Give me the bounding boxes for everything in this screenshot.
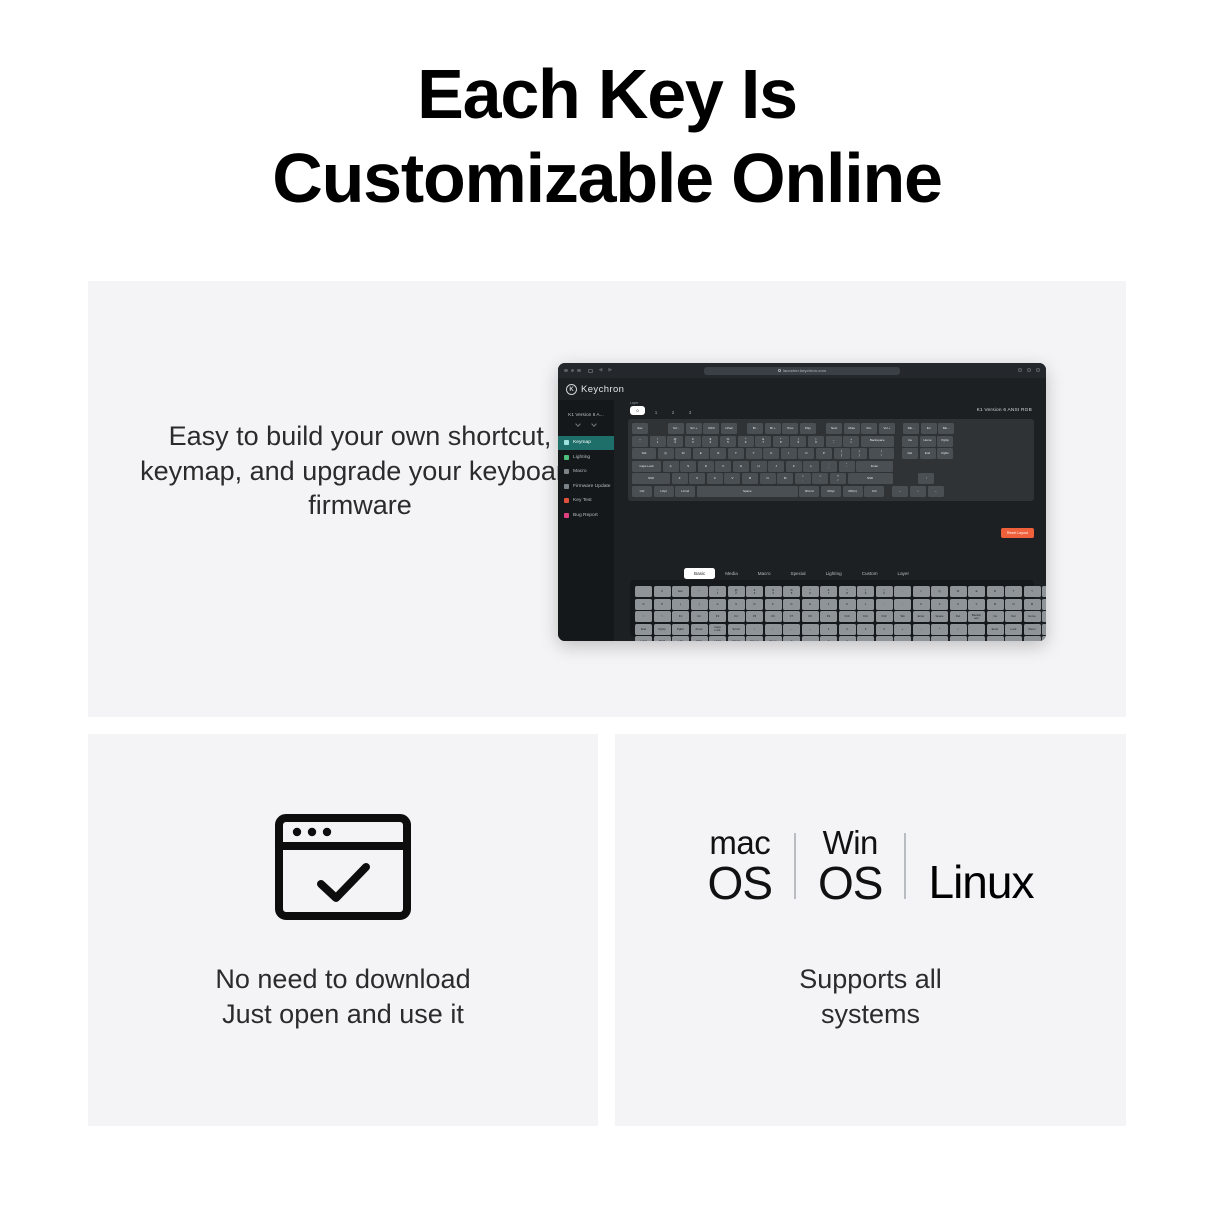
keychron-launcher-screenshot: ◀ ▶ launcher.keychron.com K Keychron bbox=[558, 363, 1046, 641]
keyboard-model-label: K1 Version 6 ANSI RGB bbox=[977, 408, 1032, 413]
keyboard-key[interactable]: Stb... bbox=[903, 423, 919, 434]
keyboard-key[interactable]: Shift bbox=[632, 473, 670, 484]
palette-key[interactable]: Screen bbox=[746, 636, 763, 641]
keyboard-key[interactable]: Next bbox=[826, 423, 842, 434]
keyboard-row: TabQWERTYUIOP{ [} ]| \DelEndPgDn bbox=[632, 448, 1030, 459]
keyboard-key[interactable]: LPad bbox=[721, 423, 737, 434]
keyboard-key[interactable]: @ 2 bbox=[667, 436, 683, 447]
palette-key[interactable]: Caps Lock bbox=[709, 624, 726, 635]
keyboard-key[interactable]: % 5 bbox=[720, 436, 736, 447]
palette-row: 0Esc~ `! 1@ 2# 3$ 4% 5^ 6& 7* 8( 9) 0-=Q… bbox=[635, 586, 1029, 597]
keyboard-key[interactable]: Scr + bbox=[686, 423, 702, 434]
keyboard-key[interactable]: LCmd bbox=[675, 486, 695, 497]
keyboard-key[interactable]: ↑ bbox=[918, 473, 934, 484]
palette-key[interactable]: F1 bbox=[672, 611, 689, 622]
sidebar-item-firmware-update[interactable]: Firmware Update bbox=[558, 480, 614, 494]
keyboard-key[interactable]: Caps Lock bbox=[632, 461, 661, 472]
keyboard-key[interactable]: M bbox=[777, 473, 793, 484]
palette-key[interactable]: LGUI bbox=[709, 636, 726, 641]
palette-key[interactable]: ↑ bbox=[746, 624, 763, 635]
palette-row: /\F1F2F3F4F5F6F7F8F9F10F11F12TabEnterSpa… bbox=[635, 611, 1029, 622]
device-actions bbox=[565, 422, 607, 426]
keyboard-key[interactable]: $ 4 bbox=[702, 436, 718, 447]
keyboard-key[interactable]: MCtl bbox=[703, 423, 719, 434]
palette-row: LCtrlRCtrlLAltRAltLGUIRGUIScreenSleep0.?… bbox=[635, 636, 1029, 641]
palette-key[interactable]: ' bbox=[894, 599, 911, 610]
keyboard-key[interactable]: O bbox=[798, 448, 814, 459]
sidebar-item-key-test[interactable]: Key Test bbox=[558, 494, 614, 508]
keyboard-spacer bbox=[936, 473, 952, 484]
palette-key[interactable]: PgDn bbox=[672, 624, 689, 635]
palette-key[interactable] bbox=[913, 636, 930, 641]
palette-key[interactable]: A bbox=[709, 599, 726, 610]
palette-key[interactable]: ? bbox=[820, 636, 837, 641]
keyboard-key[interactable]: B bbox=[742, 473, 758, 484]
palette-key[interactable]: Del bbox=[1005, 611, 1022, 622]
keyboard-key[interactable]: H bbox=[751, 461, 767, 472]
keyboard-key[interactable]: > . bbox=[812, 473, 828, 484]
keyboard-key[interactable]: Ins bbox=[902, 436, 918, 447]
palette-key[interactable]: S bbox=[728, 599, 745, 610]
palette-key[interactable] bbox=[950, 636, 967, 641]
keyboard-key[interactable]: ? / bbox=[830, 473, 846, 484]
palette-key[interactable] bbox=[1024, 636, 1041, 641]
palette-key[interactable]: / bbox=[950, 624, 967, 635]
page-root: Each Key Is Customizable Online Easy to … bbox=[0, 0, 1214, 1214]
palette-key[interactable]: R bbox=[987, 586, 1004, 597]
keyboard-row: CtrlLOptLCmdSpaceRCmdROptMO(1)Ctrl←↓→ bbox=[632, 486, 1030, 497]
app-sidebar: K1 Version 6 A... KeymapLightingMacroFir… bbox=[558, 400, 614, 641]
edit-icon[interactable] bbox=[575, 421, 581, 427]
keyboard-key[interactable]: Vol + bbox=[879, 423, 895, 434]
palette-key[interactable]: Scroll bbox=[728, 624, 745, 635]
keyboard-spacer bbox=[897, 423, 902, 434]
reset-layout-button[interactable]: Reset Layout bbox=[1001, 528, 1034, 538]
keyboard-spacer bbox=[919, 461, 935, 472]
palette-key[interactable]: Q bbox=[931, 586, 948, 597]
keyboard-key[interactable]: T bbox=[728, 448, 744, 459]
tab-layer[interactable]: Layer bbox=[888, 568, 920, 579]
palette-key[interactable] bbox=[931, 636, 948, 641]
palette-key[interactable]: F2 bbox=[691, 611, 708, 622]
sidebar-item-label: Bug Report bbox=[573, 513, 598, 518]
keyboard-key[interactable]: Tab bbox=[632, 448, 656, 459]
palette-key[interactable]: # 3 bbox=[746, 586, 763, 597]
palette-key[interactable]: Enter bbox=[987, 624, 1004, 635]
keyboard-key[interactable]: Blu... bbox=[938, 423, 954, 434]
palette-row: OP[]ASDFGHJKL;'ZXCVBNM,. bbox=[635, 599, 1029, 610]
keyboard-key[interactable]: Enter bbox=[856, 461, 893, 472]
palette-key[interactable] bbox=[857, 636, 874, 641]
keyboard-key[interactable]: C bbox=[707, 473, 723, 484]
palette-key[interactable]: F11 bbox=[857, 611, 874, 622]
layer-selector: Layer 0 1 2 3 bbox=[630, 406, 696, 415]
keyboard-key[interactable]: A bbox=[663, 461, 679, 472]
os-winos: Win OS bbox=[818, 826, 882, 906]
keyboard-key[interactable]: → bbox=[928, 486, 944, 497]
palette-key[interactable]: F8 bbox=[802, 611, 819, 622]
palette-key[interactable]: F12 bbox=[876, 611, 893, 622]
palette-key[interactable]: \ bbox=[654, 611, 671, 622]
caption-line-2: Just open and use it bbox=[88, 997, 598, 1032]
keyboard-key[interactable]: End bbox=[920, 448, 936, 459]
keyboard-key[interactable]: * 8 bbox=[773, 436, 789, 447]
browser-actions bbox=[1018, 368, 1040, 372]
palette-key[interactable]: * bbox=[931, 624, 948, 635]
palette-key[interactable]: $ 4 bbox=[765, 586, 782, 597]
address-bar[interactable]: launcher.keychron.com bbox=[704, 367, 900, 376]
sidebar-item-bug-report[interactable]: Bug Report bbox=[558, 509, 614, 523]
keyboard-row: ~ `! 1@ 2# 3$ 4% 5^ 6& 7* 8( 9) 0_ -+ =B… bbox=[632, 436, 1030, 447]
palette-key[interactable]: RGUI bbox=[728, 636, 745, 641]
keyboard-key[interactable]: PgDn bbox=[937, 448, 953, 459]
keyboard-key[interactable]: X bbox=[689, 473, 705, 484]
palette-key[interactable]: W bbox=[950, 586, 967, 597]
tab-special[interactable]: Special bbox=[781, 568, 816, 579]
feature-card-caption: Supports all systems bbox=[615, 962, 1126, 1031]
palette-key[interactable]: 4 bbox=[876, 624, 893, 635]
keyboard-key[interactable]: PgUp bbox=[937, 436, 953, 447]
firmware-update-icon bbox=[564, 484, 569, 489]
tabs-icon[interactable] bbox=[1036, 368, 1040, 372]
keyboard-key[interactable]: ↓ bbox=[910, 486, 926, 497]
keyboard-key[interactable]: Eri bbox=[921, 423, 937, 434]
forward-arrow-icon[interactable]: ▶ bbox=[608, 368, 612, 373]
sidebar-item-label: Keymap bbox=[573, 440, 591, 445]
palette-key[interactable]: F10 bbox=[839, 611, 856, 622]
os-winos-top: Win bbox=[818, 826, 882, 860]
keyboard-row: EscScr -Scr +MCtlLPadBr -Br +PrevPlayNex… bbox=[632, 423, 1030, 434]
palette-key[interactable]: F5 bbox=[746, 611, 763, 622]
palette-key[interactable]: F bbox=[765, 599, 782, 610]
sidebar-item-label: Lighting bbox=[573, 455, 590, 460]
palette-key[interactable]: U bbox=[1042, 586, 1046, 597]
keyboard-spacer bbox=[895, 436, 900, 447]
keyboard-spacer bbox=[937, 461, 953, 472]
palette-key[interactable]: Tab bbox=[894, 611, 911, 622]
palette-key[interactable] bbox=[1042, 611, 1046, 622]
keyboard-key[interactable]: # 3 bbox=[685, 436, 701, 447]
keyboard-key[interactable]: ~ ` bbox=[632, 436, 648, 447]
palette-key[interactable]: Ins bbox=[987, 611, 1004, 622]
palette-key[interactable]: C bbox=[950, 599, 967, 610]
sidebar-toggle-icon[interactable] bbox=[588, 369, 593, 373]
palette-key[interactable]: G bbox=[783, 599, 800, 610]
sidebar-nav: KeymapLightingMacroFirmware UpdateKey Te… bbox=[558, 436, 614, 522]
palette-key[interactable]: + bbox=[894, 624, 911, 635]
palette-key[interactable]: End bbox=[635, 624, 652, 635]
keyboard-spacer bbox=[901, 461, 917, 472]
palette-key[interactable]: F9 bbox=[820, 611, 837, 622]
palette-key[interactable]: 1 bbox=[820, 624, 837, 635]
tab-custom[interactable]: Custom bbox=[852, 568, 888, 579]
keyboard-key[interactable]: Home bbox=[920, 436, 936, 447]
keyboard-key[interactable]: S bbox=[680, 461, 696, 472]
palette-key[interactable]: X bbox=[931, 599, 948, 610]
tab-lighting[interactable]: Lighting bbox=[816, 568, 852, 579]
keyboard-key[interactable]: RCmd bbox=[799, 486, 819, 497]
bug-report-icon bbox=[564, 513, 569, 518]
refresh-icon[interactable] bbox=[591, 421, 597, 427]
keyboard-key[interactable]: U bbox=[763, 448, 779, 459]
share-icon[interactable] bbox=[1018, 368, 1022, 372]
keyboard-key[interactable]: } ] bbox=[851, 448, 867, 459]
key-test-icon bbox=[564, 498, 569, 503]
keyboard-key[interactable]: : ; bbox=[821, 461, 837, 472]
lighting-icon bbox=[564, 455, 569, 460]
keyboard-key[interactable]: ) 0 bbox=[808, 436, 824, 447]
palette-key[interactable]: F3 bbox=[709, 611, 726, 622]
keyboard-key[interactable]: ^ 6 bbox=[738, 436, 754, 447]
tab-media[interactable]: Media bbox=[715, 568, 748, 579]
keyboard-key[interactable]: K bbox=[786, 461, 802, 472]
keyboard-spacer bbox=[894, 473, 899, 484]
keyboard-key[interactable]: Play bbox=[800, 423, 816, 434]
palette-key[interactable]: K bbox=[839, 599, 856, 610]
layer-selector-label: Layer bbox=[630, 401, 638, 405]
plus-icon[interactable] bbox=[1027, 368, 1031, 372]
palette-key[interactable]: ← bbox=[783, 624, 800, 635]
device-selector[interactable]: K1 Version 6 A... bbox=[563, 407, 609, 430]
keyboard-key[interactable]: N bbox=[760, 473, 776, 484]
keyboard-spacer bbox=[886, 486, 891, 497]
palette-key[interactable]: Sleep bbox=[765, 636, 782, 641]
sidebar-item-label: Macro bbox=[573, 469, 587, 474]
keyboard-key[interactable]: G bbox=[733, 461, 749, 472]
palette-key[interactable]: 0 bbox=[654, 586, 671, 597]
palette-key[interactable]: Enter bbox=[913, 611, 930, 622]
palette-key[interactable]: @ 2 bbox=[728, 586, 745, 597]
palette-key[interactable]: ; bbox=[876, 599, 893, 610]
palette-key[interactable]: LCtrl bbox=[635, 636, 652, 641]
app-brand: K Keychron bbox=[566, 384, 624, 395]
palette-key[interactable]: % 5 bbox=[783, 586, 800, 597]
palette-key[interactable]: B bbox=[987, 599, 1004, 610]
caption-line-1: Supports all bbox=[615, 962, 1126, 997]
keyboard-spacer bbox=[895, 448, 900, 459]
keyboard-key[interactable]: E bbox=[693, 448, 709, 459]
keyboard-key[interactable]: Shift bbox=[848, 473, 893, 484]
key-palette-tabs: BasicMediaMacroSpecialLightingCustomLaye… bbox=[684, 568, 919, 579]
keyboard-key[interactable]: " ' bbox=[839, 461, 855, 472]
palette-key[interactable]: = bbox=[913, 586, 930, 597]
layer-option-2[interactable]: 2 bbox=[667, 410, 679, 415]
keyboard-key[interactable]: ← bbox=[892, 486, 908, 497]
palette-key[interactable]: Menu bbox=[1024, 624, 1041, 635]
keyboard-row: Caps LockASDFGHJKL: ;" 'Enter bbox=[632, 461, 1030, 472]
palette-key[interactable]: F4 bbox=[728, 611, 745, 622]
keyboard-key[interactable]: { [ bbox=[834, 448, 850, 459]
keyboard-key[interactable]: Scr - bbox=[668, 423, 684, 434]
layer-option-selected[interactable]: 0 bbox=[630, 406, 645, 415]
palette-key[interactable]: Del bbox=[950, 611, 967, 622]
keyboard-layout[interactable]: EscScr -Scr +MCtlLPadBr -Br +PrevPlayNex… bbox=[628, 419, 1034, 501]
palette-key[interactable] bbox=[1042, 636, 1046, 641]
palette-key[interactable] bbox=[1042, 624, 1046, 635]
keyboard-key[interactable]: R bbox=[710, 448, 726, 459]
palette-key[interactable] bbox=[968, 636, 985, 641]
palette-key[interactable]: D bbox=[746, 599, 763, 610]
keyboard-spacer bbox=[739, 423, 746, 434]
palette-key[interactable]: PgUp bbox=[654, 624, 671, 635]
palette-key[interactable]: - bbox=[913, 624, 930, 635]
palette-key[interactable]: N bbox=[1005, 599, 1022, 610]
address-bar-url: launcher.keychron.com bbox=[783, 368, 826, 373]
keyboard-key[interactable]: MO(1) bbox=[843, 486, 863, 497]
keyboard-key[interactable]: Vol - bbox=[861, 423, 877, 434]
palette-key[interactable]: F6 bbox=[765, 611, 782, 622]
keyboard-key[interactable]: L bbox=[803, 461, 819, 472]
keychron-logo-icon: K bbox=[566, 384, 577, 395]
keyboard-key[interactable]: J bbox=[768, 461, 784, 472]
tab-basic[interactable]: Basic bbox=[684, 568, 715, 579]
palette-key[interactable]: Backsp ace bbox=[968, 611, 985, 622]
palette-key[interactable]: Home bbox=[1024, 611, 1041, 622]
keyboard-key[interactable]: & 7 bbox=[755, 436, 771, 447]
feature-card-no-download: No need to download Just open and use it bbox=[88, 734, 598, 1126]
caption-line-2: systems bbox=[615, 997, 1126, 1032]
palette-key[interactable]: ! 1 bbox=[709, 586, 726, 597]
keyboard-key[interactable]: V bbox=[724, 473, 740, 484]
keyboard-key[interactable]: Del bbox=[902, 448, 918, 459]
sidebar-item-keymap[interactable]: Keymap bbox=[558, 436, 614, 450]
keyboard-key[interactable]: Esc bbox=[632, 423, 648, 434]
sidebar-item-label: Key Test bbox=[573, 498, 592, 503]
maximize-icon[interactable] bbox=[577, 369, 581, 373]
palette-key[interactable]: RCtrl bbox=[654, 636, 671, 641]
palette-key[interactable] bbox=[876, 636, 893, 641]
palette-key[interactable]: , bbox=[1042, 599, 1046, 610]
palette-key[interactable]: ~ ` bbox=[691, 586, 708, 597]
keyboard-key[interactable]: Q bbox=[658, 448, 674, 459]
keyboard-key[interactable]: Backspace bbox=[861, 436, 894, 447]
palette-key[interactable]: 2 bbox=[839, 624, 856, 635]
keyboard-key[interactable]: D bbox=[698, 461, 714, 472]
palette-key[interactable]: . bbox=[802, 636, 819, 641]
palette-key[interactable]: ↓ bbox=[765, 624, 782, 635]
keyboard-key[interactable]: I bbox=[781, 448, 797, 459]
palette-key[interactable]: RAlt bbox=[691, 636, 708, 641]
palette-key[interactable]: [ bbox=[672, 599, 689, 610]
page-title: Each Key Is Customizable Online bbox=[0, 52, 1214, 220]
keyboard-key[interactable]: Br - bbox=[747, 423, 763, 434]
keyboard-key[interactable]: ROpt bbox=[821, 486, 841, 497]
feature-card-caption: No need to download Just open and use it bbox=[88, 962, 598, 1031]
keyboard-key[interactable]: Y bbox=[746, 448, 762, 459]
palette-key[interactable]: T bbox=[1005, 586, 1022, 597]
palette-key[interactable] bbox=[1005, 636, 1022, 641]
back-arrow-icon[interactable]: ◀ bbox=[599, 368, 603, 373]
caption-line-1: No need to download bbox=[88, 962, 598, 997]
palette-key[interactable]: LAlt bbox=[672, 636, 689, 641]
app-brand-name: Keychron bbox=[581, 384, 624, 395]
keyboard-spacer bbox=[895, 461, 900, 472]
palette-key[interactable] bbox=[968, 624, 985, 635]
keyboard-key[interactable]: W bbox=[675, 448, 691, 459]
palette-key[interactable]: L bbox=[857, 599, 874, 610]
page-title-line-1: Each Key Is bbox=[0, 52, 1214, 136]
keyboard-key[interactable]: ! 1 bbox=[650, 436, 666, 447]
keyboard-key[interactable]: Mute bbox=[844, 423, 860, 434]
palette-key[interactable] bbox=[894, 636, 911, 641]
keyboard-key[interactable]: + = bbox=[843, 436, 859, 447]
palette-key[interactable]: 0 bbox=[783, 636, 800, 641]
palette-key[interactable]: E bbox=[968, 586, 985, 597]
palette-key[interactable]: F7 bbox=[783, 611, 800, 622]
palette-key[interactable]: & 7 bbox=[820, 586, 837, 597]
keyboard-key[interactable]: Ctrl bbox=[864, 486, 884, 497]
palette-key[interactable]: P bbox=[654, 599, 671, 610]
palette-key[interactable]: Esc bbox=[672, 586, 689, 597]
palette-key[interactable] bbox=[635, 586, 652, 597]
palette-key[interactable]: Y bbox=[1024, 586, 1041, 597]
tab-macro[interactable]: Macro bbox=[748, 568, 781, 579]
keyboard-key[interactable]: LOpt bbox=[654, 486, 674, 497]
palette-key[interactable]: ( 9 bbox=[857, 586, 874, 597]
palette-key[interactable]: * bbox=[839, 636, 856, 641]
palette-key[interactable]: O bbox=[635, 599, 652, 610]
palette-key[interactable]: Lock bbox=[1005, 624, 1022, 635]
keyboard-key[interactable]: ( 9 bbox=[790, 436, 806, 447]
app-workspace: Layer 0 1 2 3 K1 Version 6 ANSI RGB EscS… bbox=[614, 400, 1046, 641]
keyboard-key[interactable]: | \ bbox=[869, 448, 894, 459]
palette-key[interactable]: * 8 bbox=[839, 586, 856, 597]
layer-option-3[interactable]: 3 bbox=[684, 410, 696, 415]
keymap-icon bbox=[564, 440, 569, 445]
keyboard-spacer bbox=[901, 473, 917, 484]
keyboard-key[interactable]: Ctrl bbox=[632, 486, 652, 497]
keyboard-key[interactable]: _ - bbox=[826, 436, 842, 447]
palette-key[interactable]: H bbox=[802, 599, 819, 610]
palette-key[interactable]: M bbox=[1024, 599, 1041, 610]
os-divider-2 bbox=[904, 833, 906, 899]
palette-key[interactable]: Z bbox=[913, 599, 930, 610]
palette-key[interactable]: / bbox=[635, 611, 652, 622]
page-title-line-2: Customizable Online bbox=[0, 136, 1214, 220]
keyboard-key[interactable]: Br + bbox=[765, 423, 781, 434]
browser-toolbar: ◀ ▶ launcher.keychron.com bbox=[558, 363, 1046, 378]
sidebar-item-macro[interactable]: Macro bbox=[558, 465, 614, 479]
palette-key[interactable]: - bbox=[894, 586, 911, 597]
feature-card-os-support: mac OS Win OS Linux Supports all systems bbox=[615, 734, 1126, 1126]
keyboard-key[interactable]: F bbox=[715, 461, 731, 472]
layer-option-1[interactable]: 1 bbox=[650, 410, 662, 415]
palette-key[interactable]: ^ 6 bbox=[802, 586, 819, 597]
palette-key[interactable] bbox=[987, 636, 1004, 641]
keyboard-key[interactable]: Space bbox=[697, 486, 798, 497]
palette-key[interactable]: 3 bbox=[857, 624, 874, 635]
palette-key[interactable]: V bbox=[968, 599, 985, 610]
sidebar-item-label: Firmware Update bbox=[573, 484, 611, 489]
keyboard-key[interactable]: P bbox=[816, 448, 832, 459]
palette-key[interactable]: ) 0 bbox=[876, 586, 893, 597]
palette-key[interactable]: → bbox=[802, 624, 819, 635]
palette-key[interactable]: ] bbox=[691, 599, 708, 610]
minimize-icon[interactable] bbox=[571, 369, 575, 373]
palette-key[interactable]: Space bbox=[931, 611, 948, 622]
os-macos-top: mac bbox=[708, 826, 772, 860]
palette-key[interactable]: J bbox=[820, 599, 837, 610]
keyboard-key[interactable]: Z bbox=[672, 473, 688, 484]
sidebar-item-lighting[interactable]: Lighting bbox=[558, 451, 614, 465]
keyboard-key[interactable]: Prev bbox=[782, 423, 798, 434]
keyboard-spacer bbox=[650, 423, 667, 434]
palette-key[interactable]: Arrow bbox=[691, 624, 708, 635]
key-palette[interactable]: 0Esc~ `! 1@ 2# 3$ 4% 5^ 6& 7* 8( 9) 0-=Q… bbox=[630, 580, 1034, 637]
macro-icon bbox=[564, 469, 569, 474]
close-icon[interactable] bbox=[564, 369, 568, 373]
keyboard-key[interactable]: < , bbox=[795, 473, 811, 484]
